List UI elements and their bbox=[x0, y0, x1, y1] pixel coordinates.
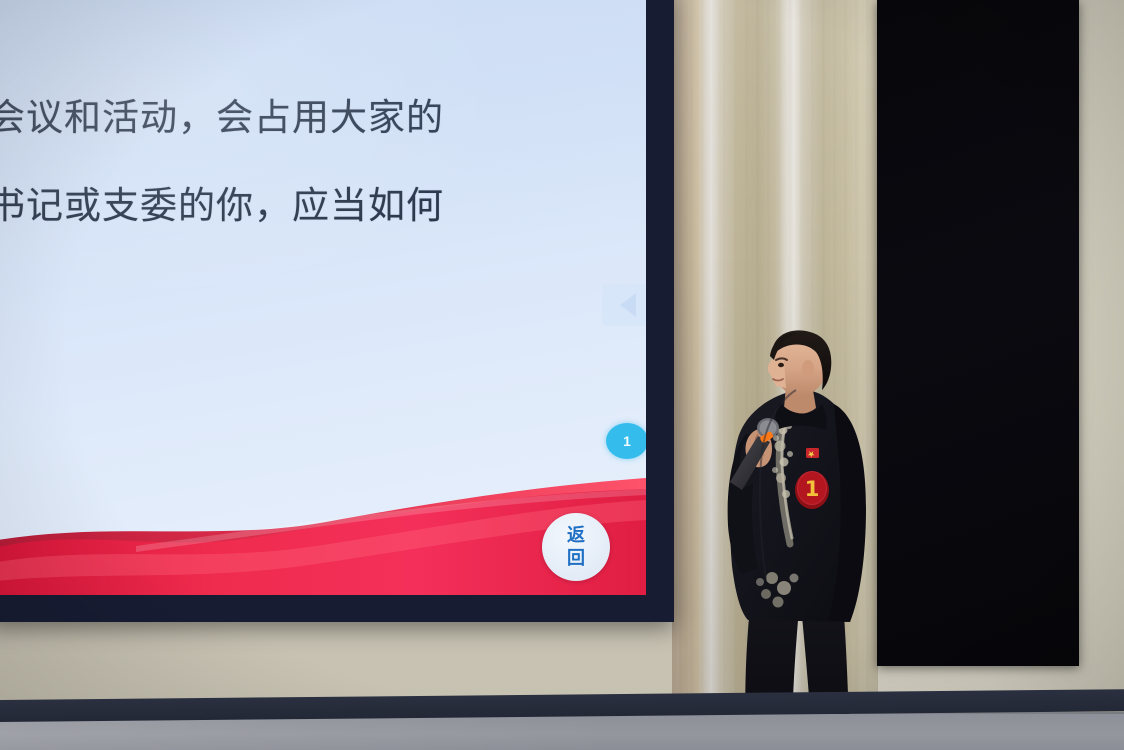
back-button-char-2: 回 bbox=[567, 547, 585, 570]
projection-screen-bezel: 开会议和活动，会占用大家的 部书记或支委的你，应当如何 bbox=[0, 0, 674, 622]
slide-page-badge[interactable]: 1 bbox=[606, 423, 646, 459]
svg-text:1: 1 bbox=[805, 477, 820, 501]
party-emblem-pin bbox=[806, 448, 819, 458]
slide-back-button[interactable]: 返 回 bbox=[542, 513, 610, 581]
presenter-person: 1 bbox=[700, 330, 915, 750]
floor-sheen bbox=[0, 716, 1124, 750]
contestant-number-badge: 1 bbox=[795, 471, 829, 509]
scene-photograph: 开会议和活动，会占用大家的 部书记或支委的你，应当如何 bbox=[0, 0, 1124, 750]
back-button-char-1: 返 bbox=[567, 524, 585, 547]
projection-screen: 开会议和活动，会占用大家的 部书记或支委的你，应当如何 bbox=[0, 0, 646, 595]
slide-ribbon-decoration bbox=[0, 0, 646, 595]
